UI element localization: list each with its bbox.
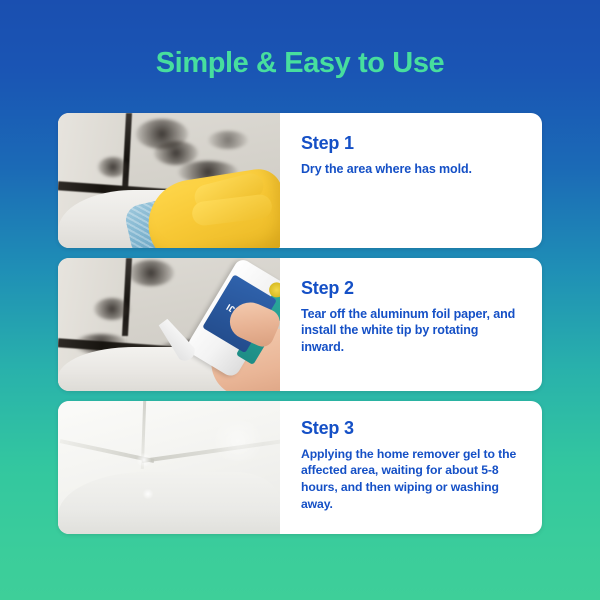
step-3-description: Applying the home remover gel to the aff… (301, 446, 524, 512)
step-card-3: Step 3 Applying the home remover gel to … (58, 401, 542, 534)
gloss-highlight (142, 489, 154, 499)
step-3-heading: Step 3 (301, 419, 524, 439)
mold-patch (94, 298, 130, 320)
step-2-heading: Step 2 (301, 279, 524, 299)
gloss-highlight (136, 453, 152, 467)
step-1-description: Dry the area where has mold. (301, 161, 524, 178)
step-card-1: Step 1 Dry the area where has mold. (58, 113, 542, 248)
infographic-poster: Simple & Easy to Use Step 1 (0, 0, 600, 600)
step-1-body: Step 1 Dry the area where has mold. (280, 113, 542, 248)
step-2-description: Tear off the aluminum foil paper, and in… (301, 306, 524, 356)
mold-patch (208, 131, 248, 149)
clean-bathtub-edge (58, 472, 280, 534)
gloss-highlight (208, 421, 268, 461)
step-card-2: BBOJI Step 2 Tear off the aluminum foil … (58, 258, 542, 391)
mold-patch (128, 260, 174, 286)
step-3-photo (58, 401, 280, 534)
mold-patch (154, 141, 198, 165)
step-2-body: Step 2 Tear off the aluminum foil paper,… (280, 258, 542, 391)
step-1-heading: Step 1 (301, 134, 524, 154)
step-2-photo: BBOJI (58, 258, 280, 391)
step-3-body: Step 3 Applying the home remover gel to … (280, 401, 542, 534)
page-title: Simple & Easy to Use (0, 48, 600, 80)
steps-list: Step 1 Dry the area where has mold. (58, 113, 542, 534)
mold-patch (98, 157, 128, 177)
step-1-photo (58, 113, 280, 248)
